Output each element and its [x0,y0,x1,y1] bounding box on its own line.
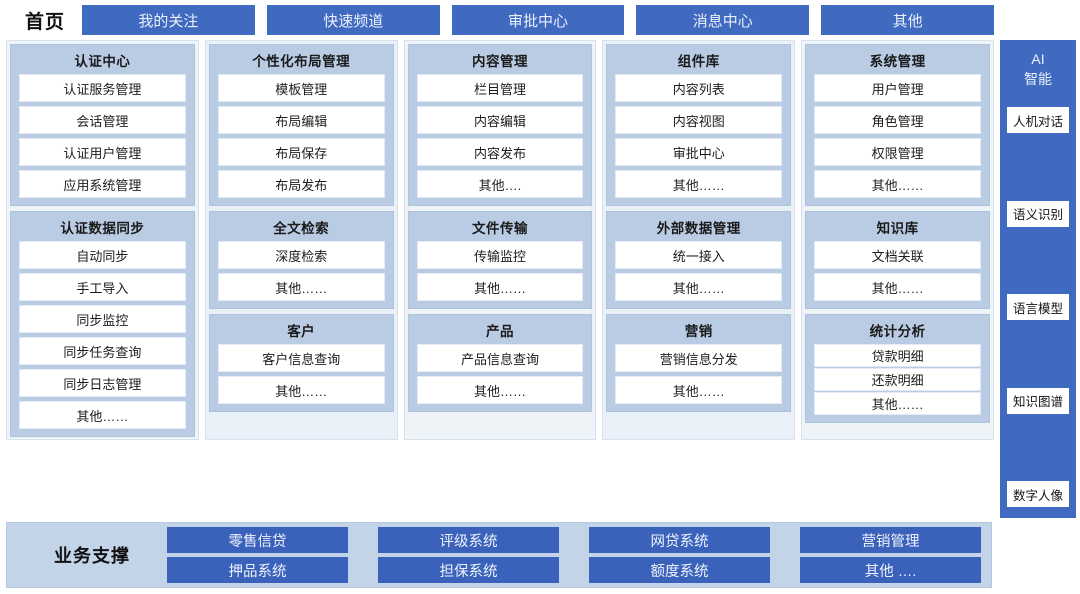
list-item[interactable]: 统一接入 [615,241,782,269]
card-title: 个性化布局管理 [218,48,385,74]
bottom-section: 业务支撑 零售信贷 评级系统 网贷系统 营销管理 押品系统 担保系统 额度系统 … [0,518,1080,594]
card-item-list: 客户信息查询 其他…… [218,344,385,404]
list-item[interactable]: 模板管理 [218,74,385,102]
card-title: 组件库 [615,48,782,74]
list-item[interactable]: 其他…… [814,273,981,301]
tab-quick-channel[interactable]: 快速频道 [267,5,440,35]
list-item[interactable]: 栏目管理 [417,74,584,102]
list-item[interactable]: 其他…… [218,273,385,301]
list-item[interactable]: 产品信息查询 [417,344,584,372]
card-title: 认证数据同步 [19,215,186,241]
list-item[interactable]: 其他…… [814,392,981,415]
tab-my-focus[interactable]: 我的关注 [82,5,255,35]
sidebar-item-language-model[interactable]: 语言模型 [1007,294,1069,320]
list-item[interactable]: 内容列表 [615,74,782,102]
card-title: 统计分析 [814,318,981,344]
card-personalized-layout: 个性化布局管理 模板管理 布局编辑 布局保存 布局发布 [209,44,394,206]
list-item[interactable]: 贷款明细 [814,344,981,367]
sidebar-item-semantic-recognition[interactable]: 语义识别 [1007,201,1069,227]
list-item[interactable]: 内容发布 [417,138,584,166]
list-item[interactable]: 自动同步 [19,241,186,269]
card-item-list: 文档关联 其他…… [814,241,981,301]
list-item[interactable]: 同步任务查询 [19,337,186,365]
list-item[interactable]: 其他…… [218,376,385,404]
card-item-list: 贷款明细 还款明细 其他…… [814,344,981,415]
card-content-management: 内容管理 栏目管理 内容编辑 内容发布 其他…. [408,44,593,206]
card-statistical-analysis: 统计分析 贷款明细 还款明细 其他…… [805,314,990,423]
card-title: 内容管理 [417,48,584,74]
card-title: 产品 [417,318,584,344]
card-file-transfer: 文件传输 传输监控 其他…… [408,211,593,309]
list-item[interactable]: 应用系统管理 [19,170,186,198]
sidebar-item-digital-avatar[interactable]: 数字人像 [1007,481,1069,507]
tab-message-center[interactable]: 消息中心 [636,5,809,35]
card-auth-data-sync: 认证数据同步 自动同步 手工导入 同步监控 同步任务查询 同步日志管理 其他…… [10,211,195,437]
list-item[interactable]: 还款明细 [814,368,981,391]
list-item[interactable]: 布局发布 [218,170,385,198]
list-item[interactable]: 同步日志管理 [19,369,186,397]
list-item[interactable]: 其他…… [615,376,782,404]
column-system-knowledge-stats: 系统管理 用户管理 角色管理 权限管理 其他…… 知识库 文档关联 其他…… [801,40,994,440]
system-button-marketing-management[interactable]: 营销管理 [800,527,981,553]
card-item-list: 模板管理 布局编辑 布局保存 布局发布 [218,74,385,198]
list-item[interactable]: 认证服务管理 [19,74,186,102]
system-button-collateral[interactable]: 押品系统 [167,557,348,583]
card-component-library: 组件库 内容列表 内容视图 审批中心 其他…… [606,44,791,206]
list-item[interactable]: 内容编辑 [417,106,584,134]
list-item[interactable]: 权限管理 [814,138,981,166]
list-item[interactable]: 传输监控 [417,241,584,269]
list-item[interactable]: 文档关联 [814,241,981,269]
card-title: 全文检索 [218,215,385,241]
tab-other[interactable]: 其他 [821,5,994,35]
card-title: 文件传输 [417,215,584,241]
card-item-list: 产品信息查询 其他…… [417,344,584,404]
card-item-list: 自动同步 手工导入 同步监控 同步任务查询 同步日志管理 其他…… [19,241,186,429]
system-button-guarantee[interactable]: 担保系统 [378,557,559,583]
system-button-rating[interactable]: 评级系统 [378,527,559,553]
tab-approval-center[interactable]: 审批中心 [452,5,625,35]
list-item[interactable]: 其他…… [615,273,782,301]
column-content-file-product: 内容管理 栏目管理 内容编辑 内容发布 其他…. 文件传输 传输监控 其他…… [404,40,597,440]
card-customer: 客户 客户信息查询 其他…… [209,314,394,412]
list-item[interactable]: 其他…… [615,170,782,198]
tab-list: 我的关注 快速频道 审批中心 消息中心 其他 [82,5,1080,35]
card-system-management: 系统管理 用户管理 角色管理 权限管理 其他…… [805,44,990,206]
card-item-list: 统一接入 其他…… [615,241,782,301]
ai-sidebar-title: AI 智能 [1024,49,1052,89]
card-item-list: 栏目管理 内容编辑 内容发布 其他…. [417,74,584,198]
card-external-data-management: 外部数据管理 统一接入 其他…… [606,211,791,309]
card-item-list: 认证服务管理 会话管理 认证用户管理 应用系统管理 [19,74,186,198]
card-item-list: 深度检索 其他…… [218,241,385,301]
card-title: 营销 [615,318,782,344]
list-item[interactable]: 认证用户管理 [19,138,186,166]
list-item[interactable]: 其他…… [814,170,981,198]
card-item-list: 内容列表 内容视图 审批中心 其他…… [615,74,782,198]
list-item[interactable]: 布局编辑 [218,106,385,134]
top-tab-bar: 首页 我的关注 快速频道 审批中心 消息中心 其他 [0,0,1080,40]
system-button-credit-limit[interactable]: 额度系统 [589,557,770,583]
home-dashboard: 首页 我的关注 快速频道 审批中心 消息中心 其他 认证中心 认证服务管理 会话… [0,0,1080,532]
column-components-external-marketing: 组件库 内容列表 内容视图 审批中心 其他…… 外部数据管理 统一接入 其他…… [602,40,795,440]
card-title: 知识库 [814,215,981,241]
list-item[interactable]: 深度检索 [218,241,385,269]
list-item[interactable]: 其他…… [417,376,584,404]
list-item[interactable]: 审批中心 [615,138,782,166]
card-auth-center: 认证中心 认证服务管理 会话管理 认证用户管理 应用系统管理 [10,44,195,206]
column-layout-search-customer: 个性化布局管理 模板管理 布局编辑 布局保存 布局发布 全文检索 深度检索 其他… [205,40,398,440]
card-knowledge-base: 知识库 文档关联 其他…… [805,211,990,309]
ai-sidebar-items: 人机对话 语义识别 语言模型 知识图谱 数字人像 [1007,107,1069,507]
list-item[interactable]: 同步监控 [19,305,186,333]
system-button-online-loan[interactable]: 网贷系统 [589,527,770,553]
page-title: 首页 [8,7,82,34]
list-item[interactable]: 布局保存 [218,138,385,166]
column-authentication: 认证中心 认证服务管理 会话管理 认证用户管理 应用系统管理 认证数据同步 自动… [6,40,199,440]
card-marketing: 营销 营销信息分发 其他…… [606,314,791,412]
ai-title-line-1: AI [1024,49,1052,69]
list-item[interactable]: 其他…… [417,273,584,301]
list-item[interactable]: 其他…… [19,401,186,429]
list-item[interactable]: 内容视图 [615,106,782,134]
card-fulltext-search: 全文检索 深度检索 其他…… [209,211,394,309]
sidebar-item-human-machine-dialogue[interactable]: 人机对话 [1007,107,1069,133]
business-support-label: 业务支撑 [17,542,167,568]
system-button-other[interactable]: 其他 …. [800,557,981,583]
list-item[interactable]: 用户管理 [814,74,981,102]
list-item[interactable]: 角色管理 [814,106,981,134]
list-item[interactable]: 其他…. [417,170,584,198]
ai-title-line-2: 智能 [1024,69,1052,89]
module-columns: 认证中心 认证服务管理 会话管理 认证用户管理 应用系统管理 认证数据同步 自动… [6,40,994,518]
sidebar-item-knowledge-graph[interactable]: 知识图谱 [1007,388,1069,414]
card-item-list: 传输监控 其他…… [417,241,584,301]
list-item[interactable]: 客户信息查询 [218,344,385,372]
ai-sidebar: AI 智能 人机对话 语义识别 语言模型 知识图谱 数字人像 [1000,40,1076,518]
card-item-list: 用户管理 角色管理 权限管理 其他…… [814,74,981,198]
card-title: 系统管理 [814,48,981,74]
card-product: 产品 产品信息查询 其他…… [408,314,593,412]
main-body: 认证中心 认证服务管理 会话管理 认证用户管理 应用系统管理 认证数据同步 自动… [0,40,1080,518]
list-item[interactable]: 营销信息分发 [615,344,782,372]
card-title: 认证中心 [19,48,186,74]
system-button-retail-credit[interactable]: 零售信贷 [167,527,348,553]
business-system-grid: 零售信贷 评级系统 网贷系统 营销管理 押品系统 担保系统 额度系统 其他 …. [167,527,981,583]
list-item[interactable]: 会话管理 [19,106,186,134]
list-item[interactable]: 手工导入 [19,273,186,301]
card-title: 外部数据管理 [615,215,782,241]
card-item-list: 营销信息分发 其他…… [615,344,782,404]
card-title: 客户 [218,318,385,344]
